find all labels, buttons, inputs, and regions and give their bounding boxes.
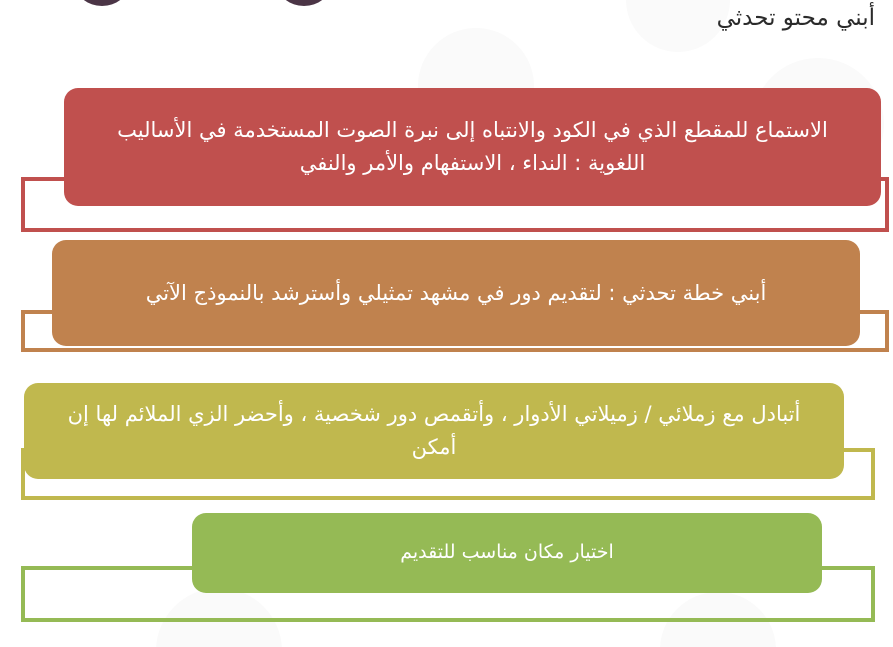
slide-title: أبني محتو تحدثي xyxy=(717,2,875,34)
step-label-4: اختيار مكان مناسب للتقديم xyxy=(218,538,796,567)
decor-circle-dark-2 xyxy=(278,0,330,6)
step-chip-4[interactable]: اختيار مكان مناسب للتقديم xyxy=(192,513,822,593)
decor-circle-dark-1 xyxy=(76,0,128,6)
step-label-1: الاستماع للمقطع الذي في الكود والانتباه … xyxy=(90,114,855,179)
slide-canvas: أبني محتو تحدثي الاستماع للمقطع الذي في … xyxy=(0,0,893,647)
step-chip-3[interactable]: أتبادل مع زملائي / زميلاتي الأدوار ، وأت… xyxy=(24,383,844,479)
step-label-3: أتبادل مع زملائي / زميلاتي الأدوار ، وأت… xyxy=(50,398,818,463)
decor-circle-light-2 xyxy=(626,0,730,52)
step-chip-1[interactable]: الاستماع للمقطع الذي في الكود والانتباه … xyxy=(64,88,881,206)
step-label-2: أبني خطة تحدثي : لتقديم دور في مشهد تمثي… xyxy=(78,277,834,310)
step-chip-2[interactable]: أبني خطة تحدثي : لتقديم دور في مشهد تمثي… xyxy=(52,240,860,346)
